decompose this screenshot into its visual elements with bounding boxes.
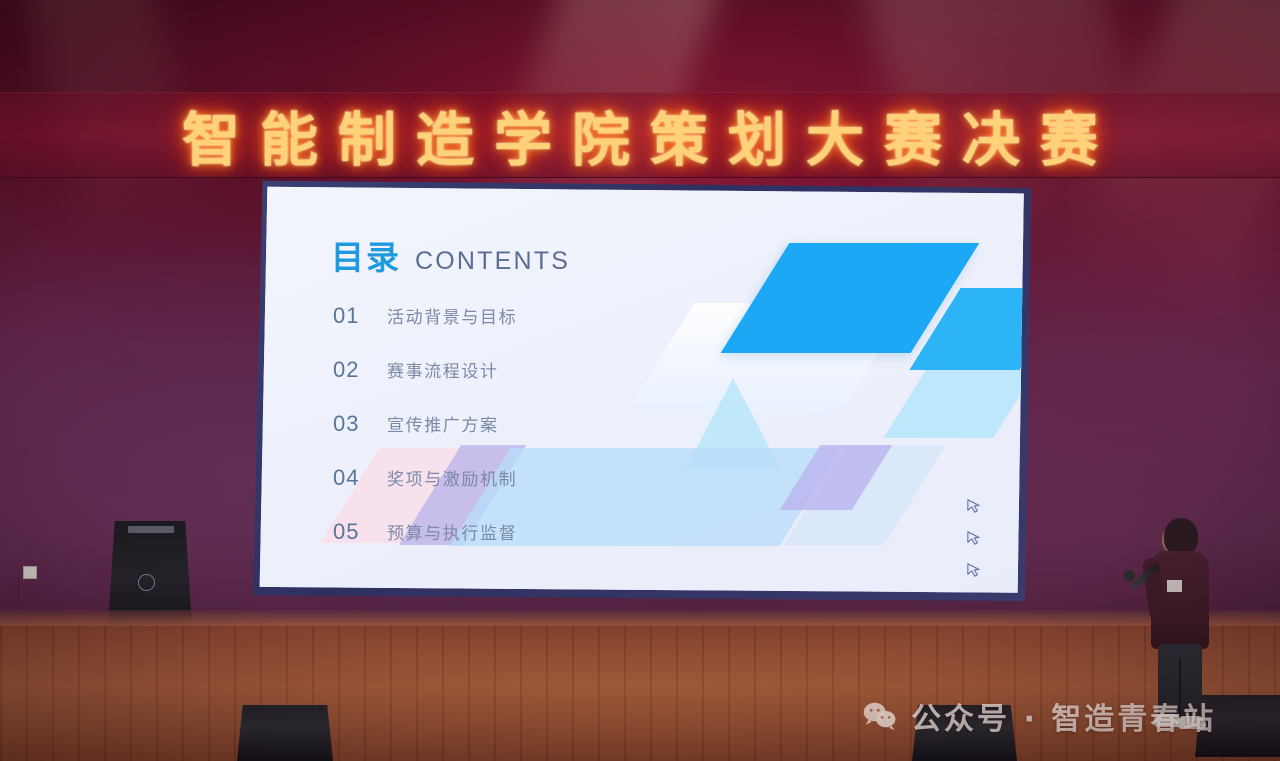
loudspeaker-label xyxy=(128,526,174,533)
list-item: 02 赛事流程设计 xyxy=(333,357,663,411)
stage-monitor xyxy=(237,705,333,761)
power-cord xyxy=(18,577,27,609)
parallelogram-shape xyxy=(780,445,893,510)
cursor-arrow-icon xyxy=(965,561,984,580)
slide-heading-cn: 目录 xyxy=(331,231,401,279)
slide-heading: 目录 CONTENTS xyxy=(331,231,570,279)
parallelogram-shape xyxy=(784,445,946,545)
toc-label: 赛事流程设计 xyxy=(387,357,499,382)
screen-surface: 目录 CONTENTS 01 活动背景与目标 02 赛事流程设计 03 xyxy=(255,183,1030,602)
toc-number: 03 xyxy=(333,411,365,437)
parallelogram-shape xyxy=(626,303,910,413)
toc-label: 奖项与激励机制 xyxy=(387,465,517,490)
stage-photo: 智能制造学院策划大赛决赛 xyxy=(0,0,1280,761)
triangle-shape xyxy=(685,378,781,470)
banner-title: 智能制造学院策划大赛决赛 xyxy=(162,93,1118,177)
table-of-contents: 01 活动背景与目标 02 赛事流程设计 03 宣传推广方案 04 奖项与激励机… xyxy=(333,303,663,573)
parallelogram-shape xyxy=(883,353,1030,438)
list-item: 03 宣传推广方案 xyxy=(333,411,663,465)
cursor-arrow-icon xyxy=(965,529,984,548)
watermark-text: 公众号 · 智造青春站 xyxy=(911,694,1216,738)
watermark: 公众号 · 智造青春站 xyxy=(862,694,1216,738)
toc-number: 05 xyxy=(333,519,365,545)
slide-contents-page: 目录 CONTENTS 01 活动背景与目标 02 赛事流程设计 03 xyxy=(255,183,1030,602)
list-item: 01 活动背景与目标 xyxy=(333,303,663,357)
toc-label: 活动背景与目标 xyxy=(387,303,517,328)
toc-number: 04 xyxy=(333,465,365,491)
projection-screen: 目录 CONTENTS 01 活动背景与目标 02 赛事流程设计 03 xyxy=(250,178,1036,608)
toc-label: 预算与执行监督 xyxy=(387,519,517,544)
list-item: 05 预算与执行监督 xyxy=(333,519,663,573)
toc-number: 01 xyxy=(333,303,365,329)
parallelogram-shape xyxy=(721,243,980,353)
toc-label: 宣传推广方案 xyxy=(387,411,499,436)
loudspeaker-logo-icon xyxy=(138,574,155,591)
cursor-icon-group xyxy=(965,497,984,580)
list-item: 04 奖项与激励机制 xyxy=(333,465,663,519)
wechat-icon xyxy=(862,701,898,731)
toc-number: 02 xyxy=(333,357,365,383)
led-banner: 智能制造学院策划大赛决赛 xyxy=(0,92,1280,178)
slide-heading-en: CONTENTS xyxy=(415,247,570,276)
cursor-arrow-icon xyxy=(965,497,984,516)
stage-edge xyxy=(0,610,1280,626)
presenter-badge xyxy=(1167,580,1182,592)
parallelogram-shape xyxy=(909,288,1030,370)
